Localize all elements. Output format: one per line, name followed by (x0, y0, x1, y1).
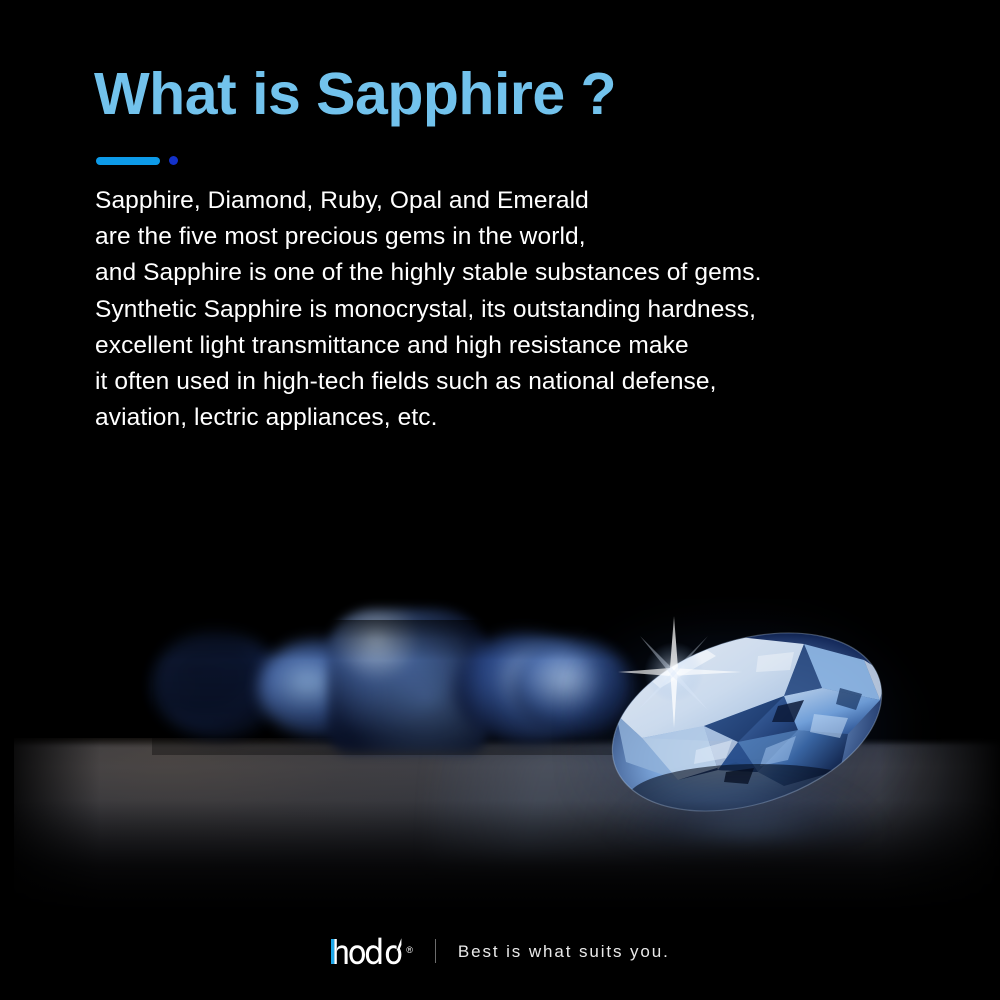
page-title: What is Sapphire ? (94, 64, 616, 126)
gemstone-photo (0, 560, 1000, 920)
title-accent-rule (96, 156, 178, 165)
accent-dot (169, 156, 178, 165)
hoda-wordmark-icon (330, 937, 404, 967)
brand-logo[interactable]: ® (330, 937, 413, 967)
promo-banner: What is Sapphire ? Sapphire, Diamond, Ru… (0, 0, 1000, 1000)
accent-bar (96, 157, 160, 165)
brand-tagline: Best is what suits you. (458, 942, 670, 962)
body-paragraph: Sapphire, Diamond, Ruby, Opal and Emeral… (95, 183, 895, 436)
footer-divider (435, 939, 436, 963)
scene-bottom-fade (0, 800, 1000, 920)
registered-trademark-icon: ® (406, 946, 413, 955)
footer: ® Best is what suits you. (0, 930, 1000, 974)
main-sapphire-gem (608, 622, 886, 822)
